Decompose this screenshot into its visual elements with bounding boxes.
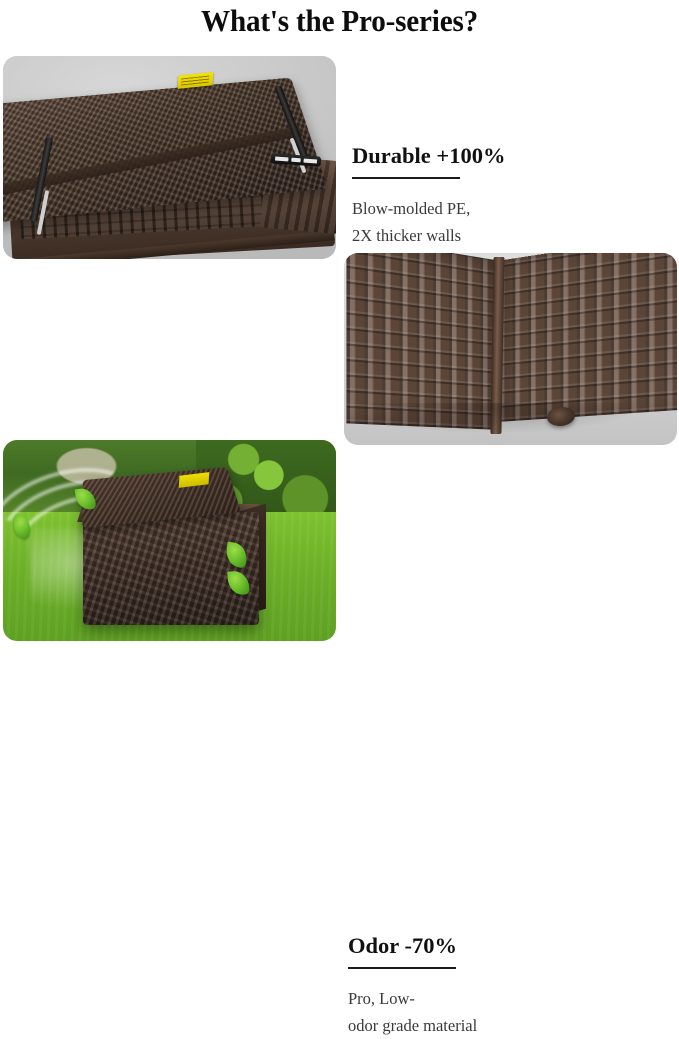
feature-row-windproof: Windproof +100% Pre-drilled anchor holes…: [0, 250, 679, 448]
feature-image-odor: [3, 440, 336, 641]
feature-text-odor: Odor -70% Pro, Low- odor grade material: [348, 932, 477, 1039]
feature-row-odor: Odor -70% Pro, Low- odor grade material: [0, 440, 679, 644]
heading-underline-rule: [348, 967, 456, 969]
woven-panel-right: [497, 253, 677, 422]
feature-body-line-2: odor grade material: [348, 1012, 477, 1039]
feature-body-line-1: Pro, Low-: [348, 985, 477, 1012]
heading-underline-rule: [352, 177, 460, 179]
deck-box-open-illustration: [3, 56, 336, 259]
feature-image-durable: [3, 56, 336, 259]
deck-box-on-lawn-illustration: [3, 440, 336, 641]
feature-heading-odor: Odor -70%: [348, 932, 477, 960]
feature-body-odor: Pro, Low- odor grade material: [348, 985, 477, 1039]
page-title: What's the Pro-series?: [20, 0, 658, 42]
box-corner-closeup-illustration: [344, 253, 677, 445]
box-front-panel: [83, 512, 259, 625]
feature-body-line-2: 2X thicker walls: [352, 222, 505, 249]
feature-row-durable: Durable +100% Blow-molded PE, 2X thicker…: [0, 56, 679, 261]
ground-shadow: [344, 403, 677, 445]
feature-body-line-1: Blow-molded PE,: [352, 195, 505, 222]
feature-body-durable: Blow-molded PE, 2X thicker walls: [352, 195, 505, 249]
feature-image-windproof: [344, 253, 677, 445]
feature-heading-durable: Durable +100%: [352, 142, 505, 170]
feature-text-durable: Durable +100% Blow-molded PE, 2X thicker…: [352, 142, 505, 249]
